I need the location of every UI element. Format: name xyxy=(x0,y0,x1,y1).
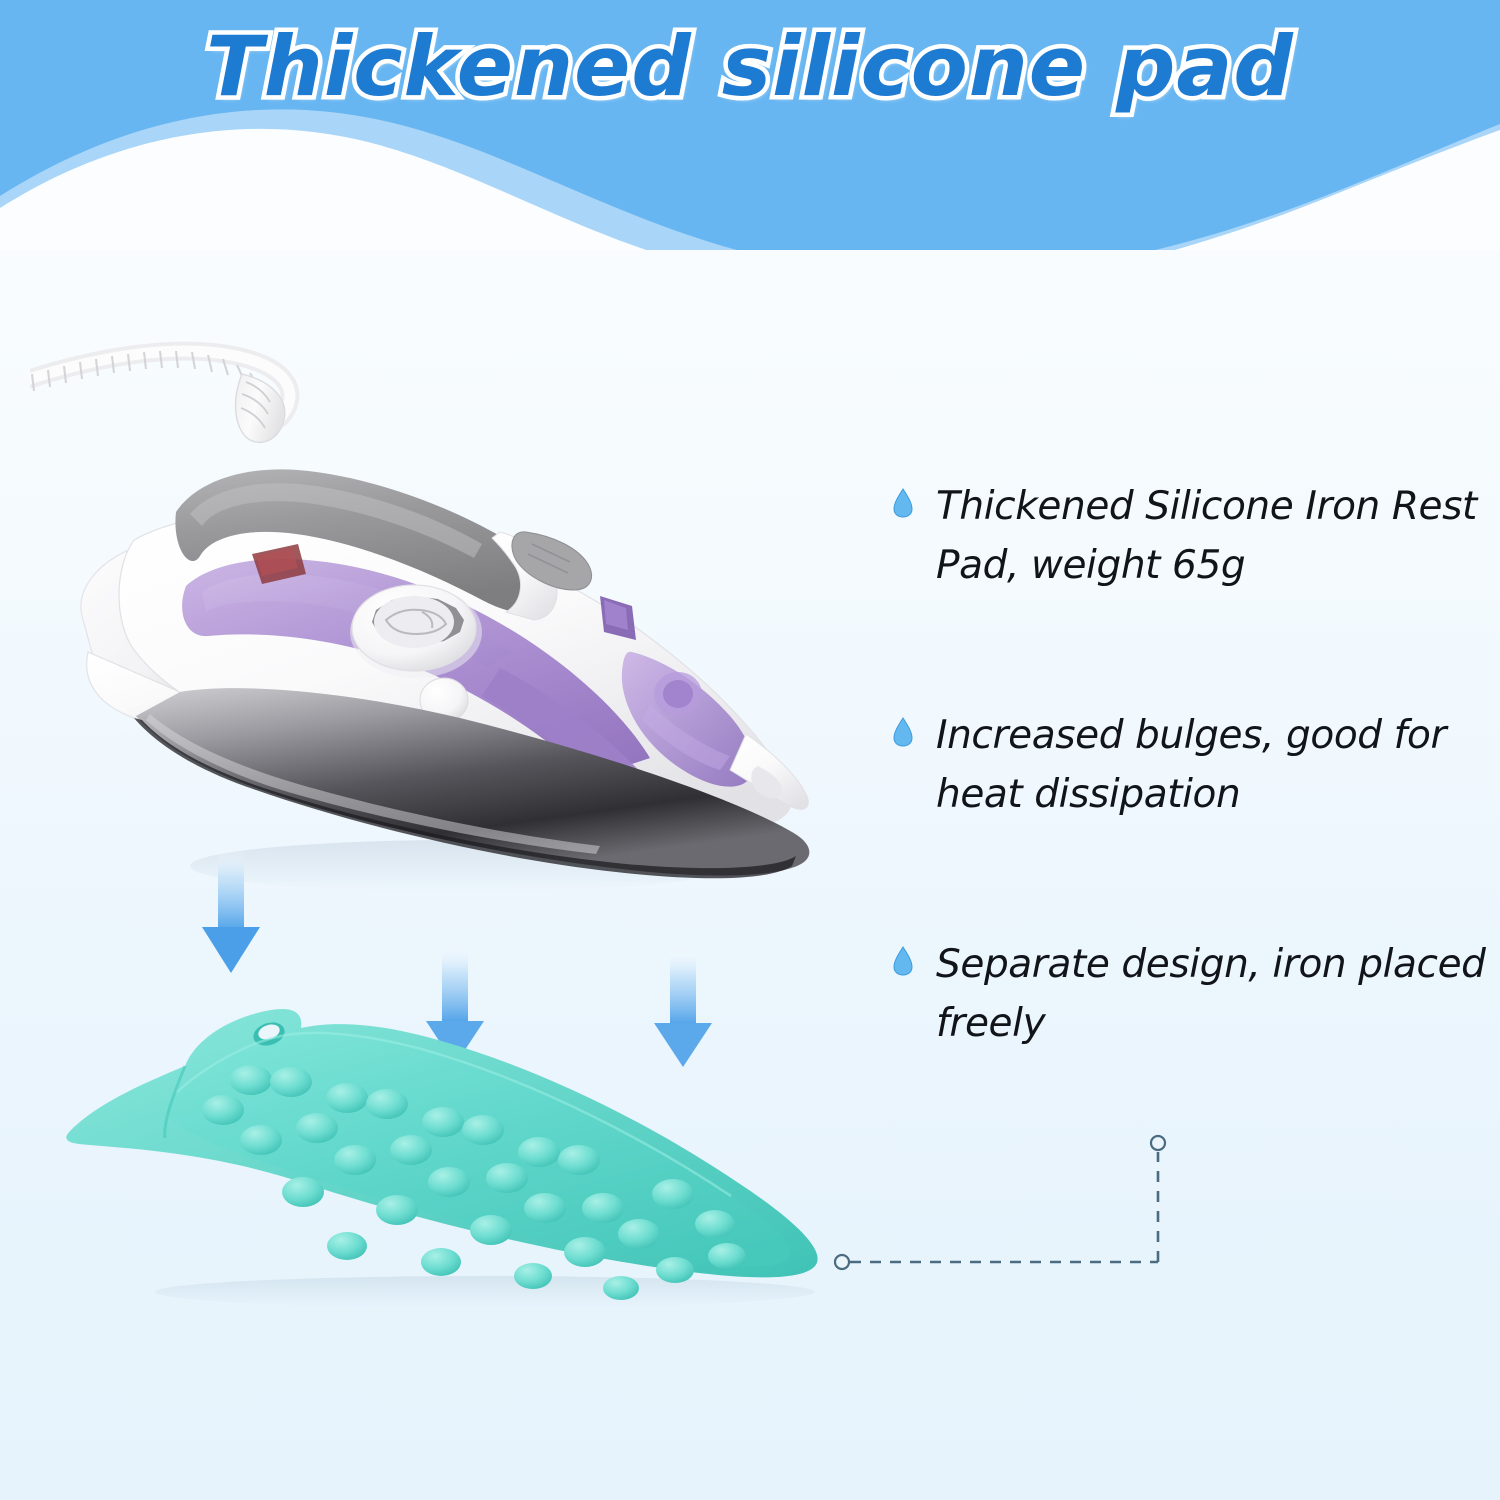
feature-item-1: Thickened Silicone Iron Rest Pad, weight… xyxy=(888,478,1488,595)
iron-drop-icon xyxy=(892,946,914,976)
iron-body xyxy=(81,469,809,878)
iron-drop-icon xyxy=(892,488,914,518)
product-infographic: Thickened silicone pad xyxy=(0,0,1500,1500)
mat-shadow xyxy=(155,1276,815,1308)
feature-text-1: Thickened Silicone Iron Rest Pad, weight… xyxy=(936,484,1477,588)
feature-item-3: Separate design, iron placed freely xyxy=(888,936,1488,1053)
silicone-mat-image xyxy=(55,970,895,1310)
callout-endpoint-top xyxy=(1151,1136,1165,1150)
iron-drop-icon xyxy=(892,717,914,747)
steam-iron-image xyxy=(30,300,850,920)
feature-item-2: Increased bulges, good for heat dissipat… xyxy=(888,707,1488,824)
product-stage: Thickened Silicone Iron Rest Pad, weight… xyxy=(0,250,1500,1500)
feature-list: Thickened Silicone Iron Rest Pad, weight… xyxy=(888,478,1488,1053)
header-banner: Thickened silicone pad xyxy=(0,0,1500,250)
power-cord xyxy=(30,351,290,442)
feature-text-2: Increased bulges, good for heat dissipat… xyxy=(936,713,1446,817)
page-title: Thickened silicone pad xyxy=(0,18,1500,115)
feature-text-3: Separate design, iron placed freely xyxy=(936,942,1486,1046)
